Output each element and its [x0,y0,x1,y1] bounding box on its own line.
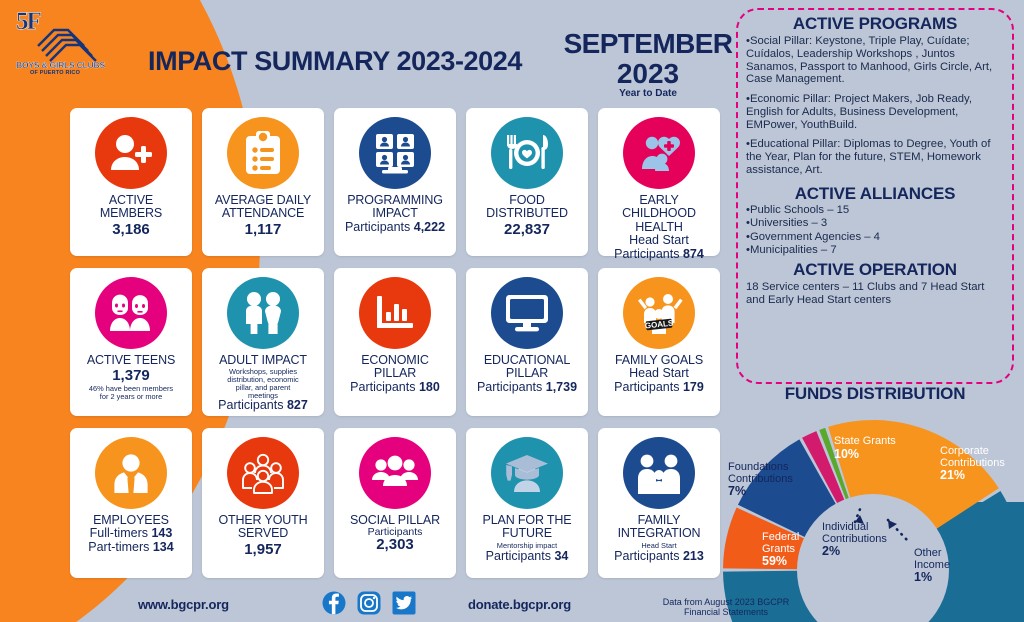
metric-card: ADULT IMPACTWorkshops, suppliesdistribut… [202,268,324,416]
family-goals-icon: GOALS [623,277,695,349]
metric-card-text: AVERAGE DAILYATTENDANCE1,117 [204,194,322,238]
metric-card-value: 1,957 [204,542,322,558]
metric-card-text: EDUCATIONALPILLARParticipants 1,739 [468,354,586,394]
infographic-canvas: 5F BOYS & GIRLS CLUBS OF PUERTO RICO IMP… [0,0,1024,622]
metric-card-text: FAMILYINTEGRATIONHead StartParticipants … [600,514,718,563]
funds-distribution-chart: Foundations Contributions7% State Grants… [722,404,1024,622]
facebook-icon[interactable] [322,591,346,615]
metric-card: EMPLOYEESFull-timers 143Part-timers 134 [70,428,192,578]
social-links [322,591,416,615]
program-pillar-label: •Economic Pillar: [746,93,831,105]
metric-card-title: FAMILYINTEGRATION [600,514,718,541]
twitter-icon[interactable] [392,591,416,615]
metric-card-title: EARLYCHILDHOOD HEALTH [600,194,718,234]
alliance-item: •Government Agencies – 4 [746,231,1004,245]
alliance-item: •Public Schools – 15 [746,204,1004,218]
metric-card-value: 3,186 [72,222,190,238]
metric-card-title: OTHER YOUTHSERVED [204,514,322,541]
metric-card-value: 1,379 [72,368,190,384]
report-year: 2023 [560,58,736,90]
bgcpr-logo: 5F BOYS & GIRLS CLUBS OF PUERTO RICO [14,8,106,84]
metric-card-title: FOODDISTRIBUTED [468,194,586,221]
employee-suit-icon [95,437,167,509]
program-pillar-label: •Social Pillar: [746,35,812,47]
program-block: •Economic Pillar: Project Makers, Job Re… [746,93,1004,131]
metric-card-stat: Participants 34 [468,550,586,563]
active-programs-heading: ACTIVE PROGRAMS [746,14,1004,34]
active-alliances-list: •Public Schools – 15•Universities – 3•Go… [746,204,1004,259]
metric-card-title: AVERAGE DAILYATTENDANCE [204,194,322,221]
metric-card-note: 46% have been membersfor 2 years or more [72,385,190,401]
active-programs-body: •Social Pillar: Keystone, Triple Play, C… [746,35,1004,177]
metric-card-note: Workshops, suppliesdistribution, economi… [204,368,322,399]
metric-card-stat: Part-timers 134 [72,541,190,554]
metric-card-text: ACTIVE TEENS1,37946% have been membersfo… [72,354,190,401]
website-link[interactable]: www.bgcpr.org [138,597,229,612]
metric-card-subtitle: Head Start [600,367,718,380]
metric-card-text: PROGRAMMINGIMPACTParticipants 4,222 [336,194,454,234]
metric-card: GOALSFAMILY GOALSHead StartParticipants … [598,268,720,416]
metric-card-text: SOCIAL PILLARParticipants2,303 [336,514,454,553]
slice-label-state-grants: State Grants10% [834,436,900,461]
metric-card: PLAN FOR THEFUTUREMentorship impactParti… [466,428,588,578]
metric-card-text: EARLYCHILDHOOD HEALTHHead StartParticipa… [600,194,718,261]
metric-card-text: OTHER YOUTHSERVED1,957 [204,514,322,558]
metric-card-stat: Participants 1,739 [468,381,586,394]
logo-handshake-icon [34,20,100,64]
metric-card-title: ACTIVEMEMBERS [72,194,190,221]
active-alliances-heading: ACTIVE ALLIANCES [746,184,1004,204]
clipboard-list-icon [227,117,299,189]
metric-card-text: EMPLOYEESFull-timers 143Part-timers 134 [72,514,190,554]
family-icon [623,437,695,509]
metric-card: PROGRAMMINGIMPACTParticipants 4,222 [334,108,456,256]
page-title: IMPACT SUMMARY 2023-2024 [148,46,548,77]
program-pillar-label: •Educational Pillar: [746,138,840,150]
logo-line-2: OF PUERTO RICO [30,70,80,76]
metric-card-title: PROGRAMMINGIMPACT [336,194,454,221]
metric-card: ECONOMICPILLARParticipants 180 [334,268,456,416]
metric-card-text: ECONOMICPILLARParticipants 180 [336,354,454,394]
metric-card: EARLYCHILDHOOD HEALTHHead StartParticipa… [598,108,720,256]
active-operation-heading: ACTIVE OPERATION [746,260,1004,280]
alliance-item: •Municipalities – 7 [746,244,1004,258]
funds-distribution-title: FUNDS DISTRIBUTION [736,384,1014,404]
metric-card: ACTIVE TEENS1,37946% have been membersfo… [70,268,192,416]
metric-card-title: ECONOMICPILLAR [336,354,454,381]
svg-text:GOALS: GOALS [644,318,674,330]
slice-label-other-income: Other Income1% [914,548,976,584]
monitor-icon [491,277,563,349]
program-block: •Educational Pillar: Diplomas to Degree,… [746,138,1004,176]
youth-group-icon [227,437,299,509]
metric-card-title: EDUCATIONALPILLAR [468,354,586,381]
metric-card: FOODDISTRIBUTED22,837 [466,108,588,256]
plate-heart-icon [491,117,563,189]
metric-card-stat: Full-timers 143 [72,527,190,540]
graduate-icon [491,437,563,509]
metric-card-text: FOODDISTRIBUTED22,837 [468,194,586,238]
metric-card: FAMILYINTEGRATIONHead StartParticipants … [598,428,720,578]
metric-card: ACTIVEMEMBERS3,186 [70,108,192,256]
slice-label-foundations: Foundations Contributions7% [728,462,820,498]
metric-card-text: FAMILY GOALSHead StartParticipants 179 [600,354,718,394]
mother-child-heart-icon [623,117,695,189]
instagram-icon[interactable] [357,591,381,615]
metric-card-grid: ACTIVEMEMBERS3,186AVERAGE DAILYATTENDANC… [70,108,730,578]
metric-card-stat: Participants 213 [600,550,718,563]
metric-card-title: PLAN FOR THEFUTURE [468,514,586,541]
program-block: •Social Pillar: Keystone, Triple Play, C… [746,35,1004,86]
active-operation-text: 18 Service centers – 11 Clubs and 7 Head… [746,281,1004,307]
metric-card-title: ACTIVE TEENS [72,354,190,367]
metric-card-text: PLAN FOR THEFUTUREMentorship impactParti… [468,514,586,563]
person-add-icon [95,117,167,189]
bar-chart-icon [359,277,431,349]
people-group-icon [359,437,431,509]
alliance-item: •Universities – 3 [746,217,1004,231]
data-source-note: Data from August 2023 BGCPRFinancial Sta… [612,598,840,618]
metric-card-title: FAMILY GOALS [600,354,718,367]
metric-card: EDUCATIONALPILLARParticipants 1,739 [466,268,588,416]
video-meeting-icon [359,117,431,189]
metric-card-stat: Participants 874 [600,248,718,261]
slice-label-corporate: Corporate Contributions21% [940,446,1024,482]
metric-card: AVERAGE DAILYATTENDANCE1,117 [202,108,324,256]
two-adults-icon [227,277,299,349]
two-teens-icon [95,277,167,349]
metric-card: SOCIAL PILLARParticipants2,303 [334,428,456,578]
metric-card-value: 2,303 [336,537,454,553]
metric-card-stat: Participants 827 [204,399,322,412]
metric-card-subtitle: Head Start [600,234,718,247]
metric-card-value: 22,837 [468,222,586,238]
logo-line-1: BOYS & GIRLS CLUBS [16,60,105,70]
metric-card-value: 1,117 [204,222,322,238]
report-month: SEPTEMBER [560,28,736,60]
metric-card-stat: Participants 4,222 [336,221,454,234]
metric-card: OTHER YOUTHSERVED1,957 [202,428,324,578]
metric-card-text: ACTIVEMEMBERS3,186 [72,194,190,238]
metric-card-stat: Participants 180 [336,381,454,394]
metric-card-title: ADULT IMPACT [204,354,322,367]
donate-link[interactable]: donate.bgcpr.org [468,597,571,612]
metric-card-stat: Participants 179 [600,381,718,394]
metric-card-title: SOCIAL PILLAR [336,514,454,527]
metric-card-title: EMPLOYEES [72,514,190,527]
year-to-date-label: Year to Date [560,88,736,99]
active-programs-panel: ACTIVE PROGRAMS •Social Pillar: Keystone… [736,8,1014,384]
metric-card-text: ADULT IMPACTWorkshops, suppliesdistribut… [204,354,322,413]
slice-label-individual: Individual Contributions2% [822,522,906,558]
